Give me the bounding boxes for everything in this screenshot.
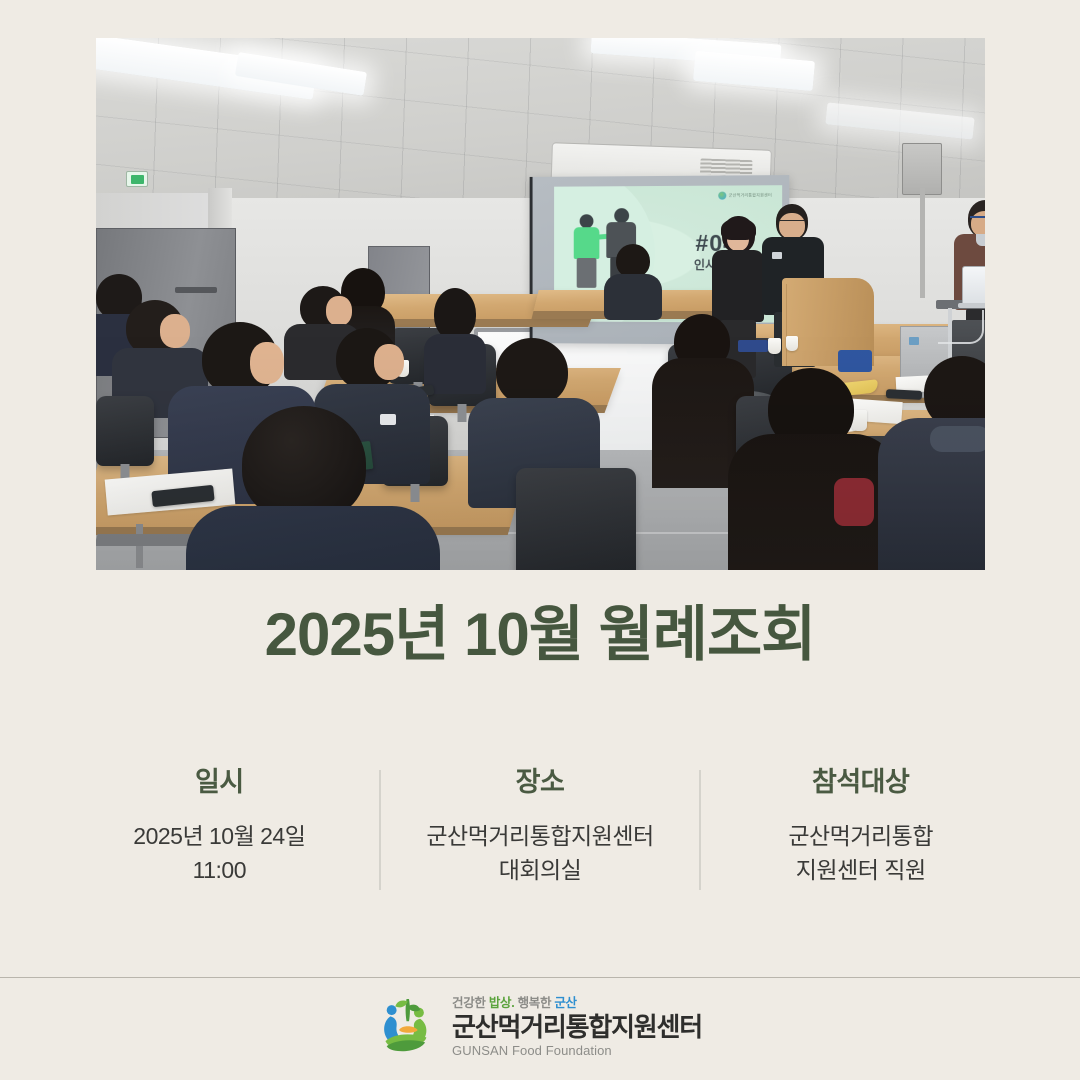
door-handle bbox=[175, 287, 217, 293]
info-heading-place: 장소 bbox=[387, 760, 694, 799]
person-body bbox=[424, 334, 486, 394]
tagline-part2: 행복한 bbox=[514, 996, 554, 1010]
person-scarf bbox=[930, 426, 985, 452]
name-tag bbox=[772, 252, 782, 259]
office-chair bbox=[96, 396, 154, 466]
person-collar bbox=[976, 234, 985, 246]
poster-card: 군산먹거리통합지원센터 #04 인사말씀 bbox=[0, 0, 1080, 1080]
glasses-icon bbox=[779, 220, 805, 225]
name-tag bbox=[380, 414, 396, 425]
person-head bbox=[242, 406, 366, 522]
person-torso bbox=[712, 250, 764, 322]
cables bbox=[938, 310, 984, 344]
figure-head bbox=[614, 208, 629, 223]
blue-box bbox=[738, 340, 768, 352]
person-face bbox=[779, 213, 805, 239]
slide-logo-icon bbox=[719, 192, 727, 200]
paper-cup bbox=[768, 338, 781, 354]
figure-legs bbox=[577, 258, 597, 288]
logo-organization-name: 군산먹거리통합지원센터 bbox=[452, 1013, 702, 1042]
logo-tagline: 건강한 밥상. 행복한 군산 bbox=[452, 992, 702, 1011]
info-attendees-line1: 군산먹거리통합 bbox=[707, 819, 1014, 853]
foundation-logo-icon bbox=[378, 994, 440, 1056]
blue-bin bbox=[838, 350, 872, 372]
info-column-attendees: 참석대상 군산먹거리통합 지원센터 직원 bbox=[701, 760, 1020, 887]
info-place-line2: 대회의실 bbox=[387, 853, 694, 887]
tagline-green: 밥상. bbox=[489, 996, 515, 1010]
info-body-place: 군산먹거리통합지원센터 대회의실 bbox=[387, 819, 694, 887]
info-date-line2: 11:00 bbox=[66, 853, 373, 887]
table-leg bbox=[136, 524, 143, 568]
person-head bbox=[616, 244, 650, 278]
footer-divider bbox=[0, 977, 1080, 978]
laptop bbox=[962, 266, 985, 304]
photo-scene: 군산먹거리통합지원센터 #04 인사말씀 bbox=[96, 38, 985, 570]
info-heading-attendees: 참석대상 bbox=[707, 760, 1014, 799]
glasses-icon bbox=[970, 216, 985, 221]
slide-logo-text: 군산먹거리통합지원센터 bbox=[729, 192, 772, 197]
person-head bbox=[496, 338, 568, 406]
info-column-place: 장소 군산먹거리통합지원센터 대회의실 bbox=[381, 760, 700, 887]
person-bag bbox=[834, 478, 874, 526]
info-place-line1: 군산먹거리통합지원센터 bbox=[387, 819, 694, 853]
tagline-blue: 군산 bbox=[554, 996, 576, 1010]
info-body-attendees: 군산먹거리통합 지원센터 직원 bbox=[707, 819, 1014, 887]
figure-head bbox=[580, 214, 594, 228]
person-hair bbox=[721, 218, 756, 240]
smartphone bbox=[886, 389, 922, 400]
figure-body bbox=[574, 227, 600, 259]
logo-text-block: 건강한 밥상. 행복한 군산 군산먹거리통합지원센터 GUNSAN Food F… bbox=[452, 992, 702, 1059]
info-column-date: 일시 2025년 10월 24일 11:00 bbox=[60, 760, 379, 887]
paper-cup bbox=[786, 336, 798, 351]
wall-conduit bbox=[920, 188, 925, 298]
person-body bbox=[604, 274, 662, 320]
info-heading-date: 일시 bbox=[66, 760, 373, 799]
info-attendees-line2: 지원센터 직원 bbox=[707, 853, 1014, 887]
person-face bbox=[160, 314, 190, 348]
page-title: 2025년 10월 월례조회 bbox=[0, 600, 1080, 669]
person-head bbox=[434, 288, 476, 340]
paper-cup bbox=[852, 410, 867, 431]
logo-english-name: GUNSAN Food Foundation bbox=[452, 1043, 702, 1058]
person-body bbox=[186, 506, 440, 570]
footer-logo-block: 건강한 밥상. 행복한 군산 군산먹거리통합지원센터 GUNSAN Food F… bbox=[0, 985, 1080, 1065]
info-date-line1: 2025년 10월 24일 bbox=[66, 819, 373, 853]
office-chair bbox=[516, 468, 636, 570]
event-info: 일시 2025년 10월 24일 11:00 장소 군산먹거리통합지원센터 대회… bbox=[60, 760, 1020, 890]
person-face bbox=[326, 296, 352, 326]
event-photo: 군산먹거리통합지원센터 #04 인사말씀 bbox=[96, 38, 985, 570]
slide-corner-logo: 군산먹거리통합지원센터 bbox=[719, 191, 772, 199]
info-body-date: 2025년 10월 24일 11:00 bbox=[66, 819, 373, 887]
person-face bbox=[374, 344, 404, 380]
person-face bbox=[250, 342, 284, 384]
tagline-part1: 건강한 bbox=[452, 996, 489, 1010]
emergency-exit-sign bbox=[126, 171, 148, 187]
